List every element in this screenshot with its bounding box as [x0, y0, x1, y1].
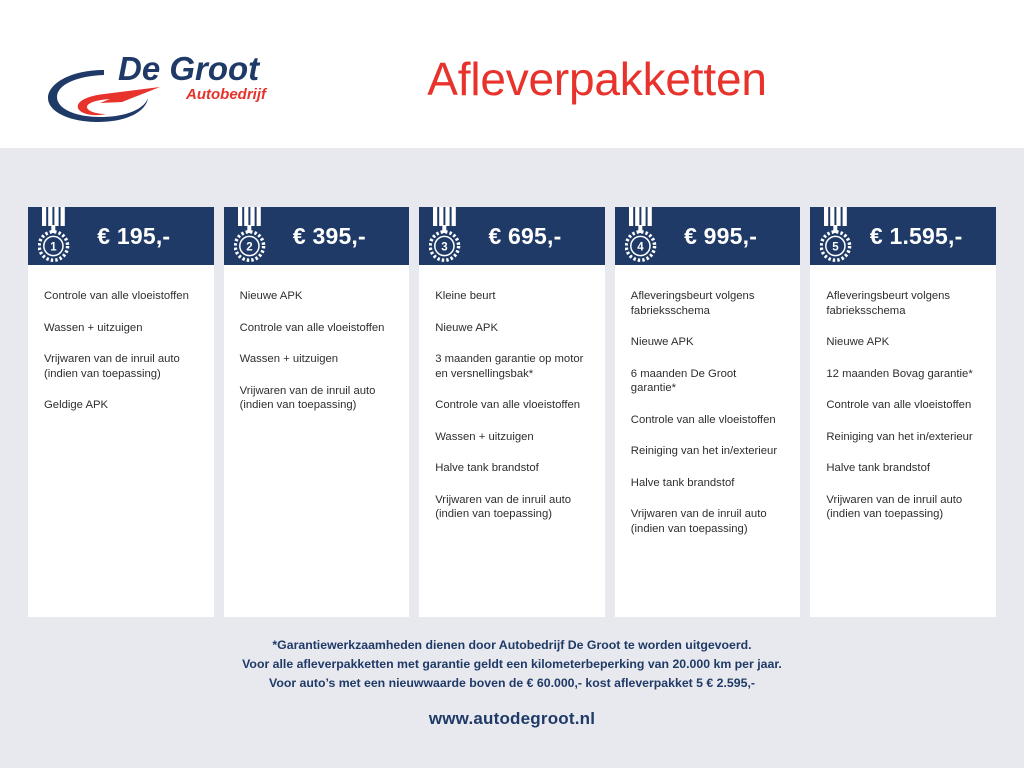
feature-item: Vrijwaren van de inruil auto (indien van…: [631, 507, 785, 536]
medal-number-1: 1: [50, 242, 57, 254]
feature-item: Afleveringsbeurt volgens fabrieksschema: [631, 289, 785, 318]
package-features-2: Nieuwe APK Controle van alle vloeistoffe…: [224, 265, 410, 617]
medal-number-5: 5: [833, 242, 840, 254]
medal-icon-4: 4: [625, 207, 659, 263]
header-band: De Groot Autobedrijf Afleverpakketten: [0, 0, 1024, 148]
package-features-4: Afleveringsbeurt volgens fabrieksschema …: [615, 265, 801, 617]
feature-item: Vrijwaren van de inruil auto (indien van…: [826, 493, 980, 522]
feature-item: Geldige APK: [44, 398, 198, 413]
feature-item: Nieuwe APK: [631, 335, 785, 350]
package-features-5: Afleveringsbeurt volgens fabrieksschema …: [810, 265, 996, 617]
medal-icon-2: 2: [234, 207, 268, 263]
package-header-2: 2 € 395,-: [224, 207, 410, 265]
feature-item: Nieuwe APK: [240, 289, 394, 304]
feature-item: Wassen + uitzuigen: [44, 321, 198, 336]
package-price-5: € 1.595,-: [854, 223, 982, 250]
package-header-4: 4 € 995,-: [615, 207, 801, 265]
feature-item: 6 maanden De Groot garantie*: [631, 367, 785, 396]
package-features-3: Kleine beurt Nieuwe APK 3 maanden garant…: [419, 265, 605, 617]
medal-icon-3: 3: [429, 207, 463, 263]
package-header-5: 5 € 1.595,-: [810, 207, 996, 265]
package-features-1: Controle van alle vloeistoffen Wassen + …: [28, 265, 214, 617]
feature-item: Nieuwe APK: [826, 335, 980, 350]
poster-page: De Groot Autobedrijf Afleverpakketten: [0, 0, 1024, 768]
feature-item: Nieuwe APK: [435, 321, 589, 336]
website-url[interactable]: www.autodegroot.nl: [0, 709, 1024, 729]
package-card-1[interactable]: 1 € 195,- Controle van alle vloeistoffen…: [28, 207, 214, 617]
footnote-line: Voor alle afleverpakketten met garantie …: [0, 655, 1024, 674]
medal-number-2: 2: [246, 242, 252, 254]
package-header-1: 1 € 195,-: [28, 207, 214, 265]
feature-item: Vrijwaren van de inruil auto (indien van…: [240, 384, 394, 413]
package-price-1: € 195,-: [72, 223, 200, 250]
feature-item: 3 maanden garantie op motor en versnelli…: [435, 352, 589, 381]
package-price-2: € 395,-: [268, 223, 396, 250]
package-card-2[interactable]: 2 € 395,- Nieuwe APK Controle van alle v…: [224, 207, 410, 617]
feature-item: Reiniging van het in/exterieur: [826, 430, 980, 445]
footnote-line: Voor auto’s met een nieuwwaarde boven de…: [0, 674, 1024, 693]
feature-item: Halve tank brandstof: [826, 461, 980, 476]
package-cards: 1 € 195,- Controle van alle vloeistoffen…: [28, 207, 996, 617]
feature-item: Controle van alle vloeistoffen: [240, 321, 394, 336]
medal-icon-1: 1: [38, 207, 72, 263]
feature-item: Controle van alle vloeistoffen: [826, 398, 980, 413]
feature-item: Halve tank brandstof: [435, 461, 589, 476]
feature-item: Vrijwaren van de inruil auto (indien van…: [435, 493, 589, 522]
package-card-5[interactable]: 5 € 1.595,- Afleveringsbeurt volgens fab…: [810, 207, 996, 617]
feature-item: Wassen + uitzuigen: [435, 430, 589, 445]
footnote-line: *Garantiewerkzaamheden dienen door Autob…: [0, 636, 1024, 655]
package-price-4: € 995,-: [659, 223, 787, 250]
medal-number-3: 3: [441, 242, 447, 254]
feature-item: Halve tank brandstof: [631, 476, 785, 491]
feature-item: Controle van alle vloeistoffen: [435, 398, 589, 413]
package-price-3: € 695,-: [463, 223, 591, 250]
feature-item: Controle van alle vloeistoffen: [44, 289, 198, 304]
package-card-4[interactable]: 4 € 995,- Afleveringsbeurt volgens fabri…: [615, 207, 801, 617]
feature-item: 12 maanden Bovag garantie*: [826, 367, 980, 382]
feature-item: Afleveringsbeurt volgens fabrieksschema: [826, 289, 980, 318]
footnotes: *Garantiewerkzaamheden dienen door Autob…: [0, 636, 1024, 693]
feature-item: Controle van alle vloeistoffen: [631, 413, 785, 428]
feature-item: Vrijwaren van de inruil auto (indien van…: [44, 352, 198, 381]
feature-item: Wassen + uitzuigen: [240, 352, 394, 367]
package-header-3: 3 € 695,-: [419, 207, 605, 265]
feature-item: Reiniging van het in/exterieur: [631, 444, 785, 459]
package-card-3[interactable]: 3 € 695,- Kleine beurt Nieuwe APK 3 maan…: [419, 207, 605, 617]
medal-icon-5: 5: [820, 207, 854, 263]
feature-item: Kleine beurt: [435, 289, 589, 304]
page-title: Afleverpakketten: [0, 50, 1024, 108]
medal-number-4: 4: [637, 242, 644, 254]
